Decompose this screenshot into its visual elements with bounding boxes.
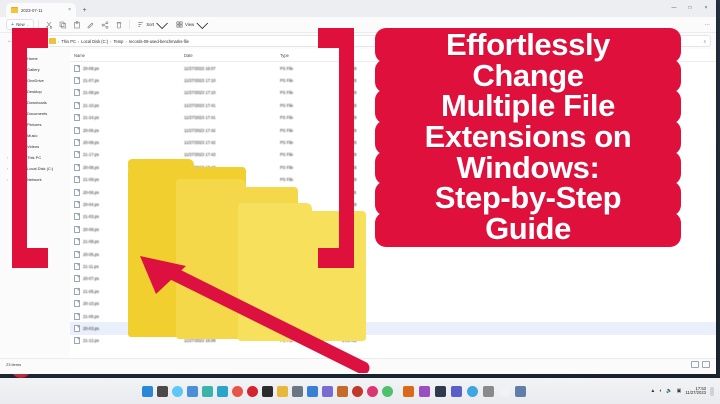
file-icon bbox=[74, 313, 80, 320]
cell-name: 21-17.ps bbox=[83, 152, 184, 157]
clock-date: 11/27/2023 bbox=[685, 391, 706, 395]
file-explorer-icon[interactable] bbox=[277, 386, 288, 397]
file-icon bbox=[74, 300, 80, 307]
calculator-icon[interactable] bbox=[435, 386, 446, 397]
spotify-icon[interactable] bbox=[382, 386, 393, 397]
file-icon bbox=[74, 251, 80, 258]
breadcrumb-item-3[interactable]: records-08-used-benchmarks-file bbox=[129, 39, 189, 44]
file-icon bbox=[74, 102, 80, 109]
breadcrumb-item-0[interactable]: This PC bbox=[61, 39, 76, 44]
system-tray: ▲ ◐ 🔈 ▣ 17:53 11/27/2023 bbox=[650, 387, 714, 396]
cell-name: 21-07.ps bbox=[83, 78, 184, 83]
paint-icon[interactable] bbox=[483, 386, 494, 397]
left-bracket-annotation bbox=[12, 28, 48, 268]
sort-label: Sort bbox=[146, 22, 154, 27]
file-icon bbox=[74, 263, 80, 270]
cell-date: 11/27/2023 17:42 bbox=[184, 140, 280, 145]
opera-icon[interactable] bbox=[247, 386, 258, 397]
file-icon bbox=[74, 325, 80, 332]
arrow-annotation bbox=[120, 248, 370, 373]
file-icon bbox=[74, 189, 80, 196]
network-icon[interactable]: ◐ bbox=[659, 388, 662, 394]
sync-icon[interactable] bbox=[307, 386, 318, 397]
title-line-4: Windows: bbox=[388, 153, 668, 184]
file-icon bbox=[74, 89, 80, 96]
close-tab-icon[interactable]: × bbox=[68, 7, 71, 13]
toolbar-divider-2 bbox=[129, 20, 130, 29]
file-icon bbox=[74, 77, 80, 84]
overflow-menu-button[interactable]: ⋯ bbox=[705, 22, 710, 28]
cell-date: 11/27/2023 17:47 bbox=[184, 239, 280, 244]
cell-name: 20-04.ps bbox=[83, 202, 184, 207]
file-icon bbox=[74, 226, 80, 233]
details-view-icon bbox=[691, 361, 699, 368]
file-icon bbox=[74, 275, 80, 282]
edge-icon[interactable] bbox=[217, 386, 228, 397]
cell-date: 11/27/2023 17:45 bbox=[184, 190, 280, 195]
page-title: EffortlesslyChangeMultiple FileExtension… bbox=[388, 24, 668, 245]
cell-name: 21-24.ps bbox=[83, 115, 184, 120]
battery-icon[interactable]: ▣ bbox=[677, 388, 682, 394]
file-icon bbox=[74, 238, 80, 245]
explorer-tab[interactable]: 2023-07-11 × bbox=[6, 3, 76, 17]
cell-name: 21-10.ps bbox=[83, 103, 184, 108]
file-icon bbox=[74, 164, 80, 171]
paste-icon[interactable] bbox=[71, 19, 83, 30]
cell-name: 20-06.ps bbox=[83, 190, 184, 195]
chrome-icon[interactable] bbox=[232, 386, 243, 397]
chevron-down-icon-view: ⌵ bbox=[196, 16, 208, 34]
store-icon[interactable] bbox=[322, 386, 333, 397]
view-button[interactable]: View ⌵ bbox=[173, 19, 211, 30]
file-icon bbox=[74, 176, 80, 183]
search-icon[interactable] bbox=[157, 386, 168, 397]
start-icon[interactable] bbox=[142, 386, 153, 397]
show-desktop-button[interactable] bbox=[710, 387, 714, 396]
task-view-icon[interactable] bbox=[187, 386, 198, 397]
file-icon bbox=[74, 288, 80, 295]
cell-name: 21-09.ps bbox=[83, 177, 184, 182]
cell-date: 11/27/2023 17:10 bbox=[184, 78, 280, 83]
maximize-button[interactable]: □ bbox=[682, 1, 698, 15]
show-hidden-icon[interactable]: ▲ bbox=[650, 388, 655, 394]
terminal-icon[interactable] bbox=[337, 386, 348, 397]
teams-icon[interactable] bbox=[451, 386, 462, 397]
breadcrumb-sep-3: › bbox=[125, 39, 126, 44]
title-line-5: Step-by-Step bbox=[388, 183, 668, 214]
breadcrumb-sep-2: › bbox=[110, 39, 111, 44]
title-line-1: Change bbox=[388, 61, 668, 92]
cell-name: 20-08.ps bbox=[83, 165, 184, 170]
breadcrumb-item-2[interactable]: Temp bbox=[113, 39, 123, 44]
title-line-0: Effortlessly bbox=[388, 30, 668, 61]
title-line-3: Extensions on bbox=[388, 122, 668, 153]
title-line-2: Multiple File bbox=[388, 91, 668, 122]
plus-icon: + bbox=[11, 22, 14, 28]
taskbar: ▲ ◐ 🔈 ▣ 17:53 11/27/2023 bbox=[0, 378, 720, 404]
photos-icon[interactable] bbox=[262, 386, 273, 397]
cell-date: 11/27/2023 17:46 bbox=[184, 227, 280, 232]
tab-strip: 2023-07-11 × + — □ × bbox=[0, 0, 716, 17]
taskbar-right-icons bbox=[403, 386, 526, 397]
cell-date: 11/27/2023 17:43 bbox=[184, 152, 280, 157]
folder-icon bbox=[11, 7, 18, 13]
title-block: EffortlesslyChangeMultiple FileExtension… bbox=[388, 24, 668, 344]
tab-label: 2023-07-11 bbox=[21, 8, 43, 13]
record-icon[interactable] bbox=[352, 386, 363, 397]
cell-date: 11/27/2023 16:07 bbox=[184, 66, 280, 71]
search-icon: ⌕ bbox=[703, 39, 706, 44]
chat-icon[interactable] bbox=[467, 386, 478, 397]
onenote-icon[interactable] bbox=[419, 386, 430, 397]
file-icon bbox=[74, 127, 80, 134]
file-icon bbox=[74, 65, 80, 72]
cell-name: 20-06.ps bbox=[83, 128, 184, 133]
file-icon bbox=[74, 151, 80, 158]
file-icon bbox=[74, 139, 80, 146]
cell-date: 11/27/2023 17:41 bbox=[184, 103, 280, 108]
cell-name: 20-09.ps bbox=[83, 227, 184, 232]
column-header-date[interactable]: Date bbox=[184, 53, 280, 58]
cell-date: 11/27/2023 17:43 bbox=[184, 165, 280, 170]
file-icon bbox=[74, 201, 80, 208]
cell-date: 11/27/2023 17:45 bbox=[184, 202, 280, 207]
rename-icon[interactable] bbox=[85, 19, 97, 30]
file-icon bbox=[74, 114, 80, 121]
breadcrumb-folder-icon bbox=[49, 38, 56, 44]
title-line-6: Guide bbox=[388, 214, 668, 245]
taskbar-left-icons bbox=[142, 386, 393, 397]
right-bracket-annotation bbox=[318, 28, 354, 268]
view-toggles[interactable] bbox=[691, 361, 710, 368]
moon-icon[interactable] bbox=[499, 386, 510, 397]
close-window-button[interactable]: × bbox=[698, 1, 714, 15]
breadcrumb-sep-1: › bbox=[78, 39, 79, 44]
vlc-icon[interactable] bbox=[403, 386, 414, 397]
cell-date: 11/27/2023 17:41 bbox=[184, 115, 280, 120]
cell-date: 11/27/2023 17:44 bbox=[184, 177, 280, 182]
cell-name: 20-08.ps bbox=[83, 140, 184, 145]
new-tab-button[interactable]: + bbox=[78, 4, 91, 17]
breadcrumb-sep-0: › bbox=[58, 39, 59, 44]
window-controls: — □ × bbox=[666, 1, 714, 15]
thumbnail-canvas: PDFs Weekly reports 2023-07-11 × + — □ ×… bbox=[0, 0, 720, 404]
cell-name: 21-03.ps bbox=[83, 214, 184, 219]
new-button-label: New bbox=[16, 22, 24, 27]
cell-date: 11/27/2023 17:10 bbox=[184, 90, 280, 95]
view-label: View bbox=[185, 22, 194, 27]
delete-icon[interactable] bbox=[113, 19, 125, 30]
pin-icon[interactable] bbox=[367, 386, 378, 397]
chevron-down-icon: ⌵ bbox=[27, 23, 30, 27]
cell-name: 21-08.ps bbox=[83, 90, 184, 95]
minimize-button[interactable]: — bbox=[666, 1, 682, 15]
file-icon bbox=[74, 213, 80, 220]
item-count: 23 items bbox=[6, 362, 21, 367]
breadcrumb-item-1[interactable]: Local Disk (C:) bbox=[81, 39, 108, 44]
mail-icon[interactable] bbox=[515, 386, 526, 397]
volume-icon[interactable]: 🔈 bbox=[666, 388, 672, 394]
file-icon bbox=[74, 337, 80, 344]
copy-icon[interactable] bbox=[57, 19, 69, 30]
chevron-down-icon-sort: ⌵ bbox=[156, 16, 168, 34]
settings-icon[interactable] bbox=[292, 386, 303, 397]
cell-date: 11/27/2023 17:42 bbox=[184, 128, 280, 133]
tiles-view-icon bbox=[702, 361, 710, 368]
cell-name: 20-08.ps bbox=[83, 66, 184, 71]
cell-date: 11/27/2023 17:46 bbox=[184, 214, 280, 219]
sort-button[interactable]: Sort ⌵ bbox=[134, 19, 171, 30]
clock[interactable]: 17:53 11/27/2023 bbox=[685, 387, 706, 396]
widgets-icon[interactable] bbox=[202, 386, 213, 397]
column-header-name[interactable]: Name bbox=[74, 53, 184, 58]
share-icon[interactable] bbox=[99, 19, 111, 30]
cell-name: 21-08.ps bbox=[83, 239, 184, 244]
cortana-icon[interactable] bbox=[172, 386, 183, 397]
